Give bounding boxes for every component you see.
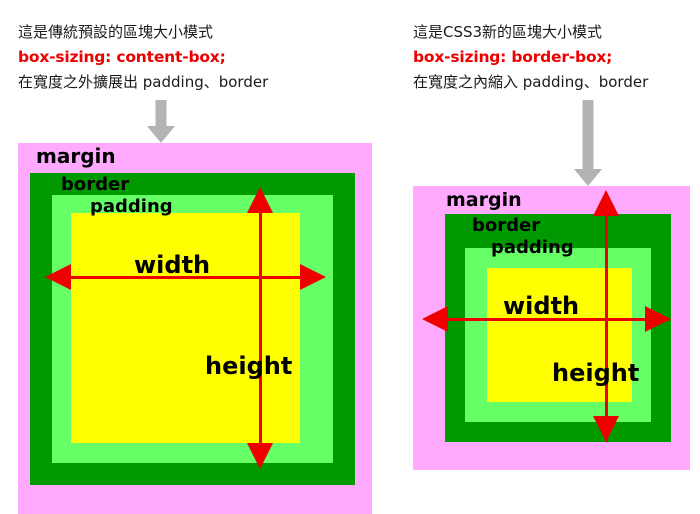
header-code-content-box: box-sizing: content-box; bbox=[18, 47, 268, 68]
height-measure-line bbox=[259, 213, 262, 443]
arrow-down-icon bbox=[147, 100, 175, 143]
box-model-content-box: margin border padding width height bbox=[18, 143, 372, 514]
header-line-3: 在寬度之外擴展出 padding、border bbox=[18, 72, 268, 93]
width-arrow-left-head bbox=[45, 264, 71, 290]
panel-border-box-header: 這是CSS3新的區塊大小模式 box-sizing: border-box; 在… bbox=[413, 22, 648, 93]
label-padding: padding bbox=[90, 198, 173, 216]
height-measure-line bbox=[605, 216, 608, 442]
header-line-3: 在寬度之內縮入 padding、border bbox=[413, 72, 648, 93]
height-label: height bbox=[205, 354, 292, 378]
width-arrow-right-head bbox=[645, 306, 671, 332]
width-label: width bbox=[134, 253, 210, 277]
height-arrow-down-head bbox=[593, 416, 619, 442]
layer-content bbox=[71, 213, 300, 443]
height-arrow-up-head bbox=[247, 187, 273, 213]
height-label: height bbox=[552, 361, 639, 385]
arrow-shaft bbox=[583, 100, 594, 169]
arrow-shaft bbox=[156, 100, 167, 126]
header-line-1: 這是CSS3新的區塊大小模式 bbox=[413, 22, 648, 43]
diagram-canvas: 這是傳統預設的區塊大小模式 box-sizing: content-box; 在… bbox=[0, 0, 700, 514]
label-border: border bbox=[472, 217, 540, 235]
width-arrow-left-head bbox=[422, 306, 448, 332]
label-margin: margin bbox=[36, 146, 116, 166]
arrow-head bbox=[147, 126, 175, 143]
box-model-border-box: margin border padding width height bbox=[413, 186, 690, 470]
height-arrow-up-head bbox=[593, 190, 619, 216]
width-label: width bbox=[503, 294, 579, 318]
header-code-border-box: box-sizing: border-box; bbox=[413, 47, 648, 68]
arrow-down-icon bbox=[574, 100, 602, 186]
label-margin: margin bbox=[446, 191, 522, 210]
header-line-1: 這是傳統預設的區塊大小模式 bbox=[18, 22, 268, 43]
width-arrow-right-head bbox=[300, 264, 326, 290]
label-padding: padding bbox=[491, 239, 574, 257]
panel-content-box-header: 這是傳統預設的區塊大小模式 box-sizing: content-box; 在… bbox=[18, 22, 268, 93]
arrow-head bbox=[574, 169, 602, 186]
height-arrow-down-head bbox=[247, 443, 273, 469]
label-border: border bbox=[61, 176, 129, 194]
